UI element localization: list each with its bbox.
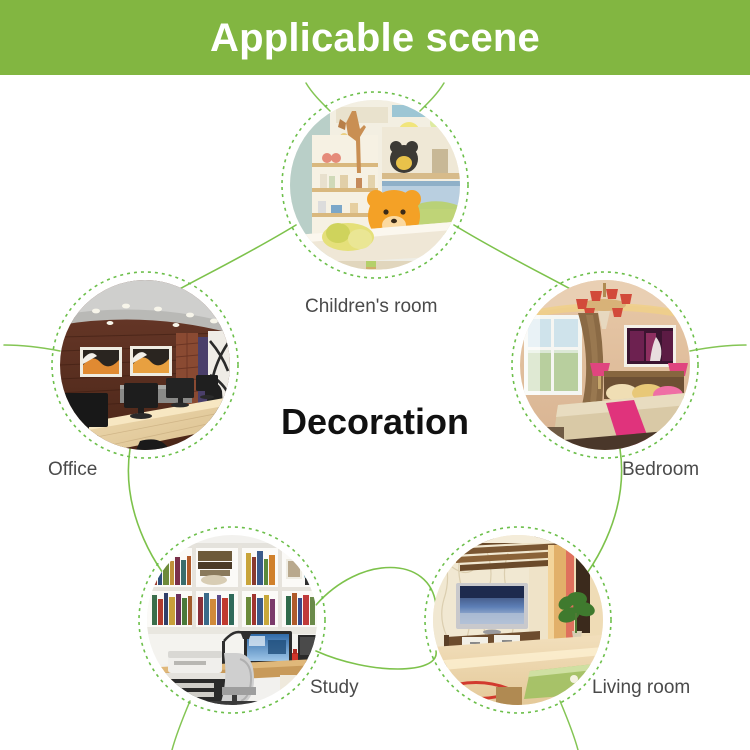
connector-tail-living-down [560,701,578,750]
connector-children-to-bedroom [454,225,574,291]
caption-study: Study [310,678,359,697]
connector-tail-top-right [420,83,444,111]
connector-study-to-living [316,568,436,606]
connector-tail-right-out [690,345,746,351]
connector-bedroom-to-living [570,449,622,593]
caption-bedroom: Bedroom [622,460,699,479]
connector-office-to-study [128,449,180,593]
scene-diagram: Decoration Children's room Bedroom Livin… [0,75,750,750]
caption-office: Office [48,460,97,479]
connector-study-to-living-lower [316,651,436,669]
caption-living-room: Living room [592,678,690,697]
connector-tail-top-left [306,83,330,111]
center-label: Decoration [0,404,750,440]
connector-tail-left-out [4,345,60,351]
caption-children-room: Children's room [305,297,437,316]
connector-children-to-office [176,225,296,291]
page-title: Applicable scene [210,18,540,58]
applicable-scene-infographic: Applicable scene [0,0,750,750]
header-bar: Applicable scene [0,0,750,75]
connector-tail-study-down [172,701,190,750]
